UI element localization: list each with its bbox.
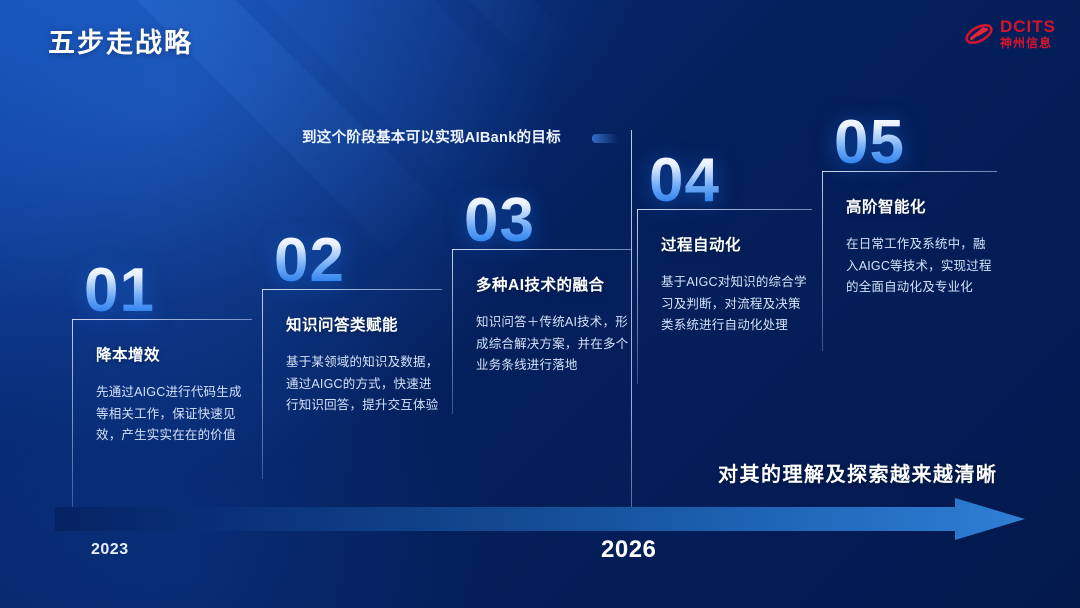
stage-annotation: 到这个阶段基本可以实现AIBank的目标: [302, 126, 561, 147]
step-card-02[interactable]: 02 知识问答类赋能 基于某领域的知识及数据，通过AIGC的方式，快速进行知识回…: [262, 232, 442, 479]
step-card-01[interactable]: 01 降本增效 先通过AIGC进行代码生成等相关工作，保证快速见效，产生实实在在…: [72, 262, 252, 509]
step-card-05[interactable]: 05 高阶智能化 在日常工作及系统中，融入AIGC等技术，实现过程的全面自动化及…: [822, 114, 997, 351]
logo-text-cn: 神州信息: [1000, 37, 1056, 49]
timeline-year-start: 2023: [91, 541, 129, 559]
step-bracket-02: 知识问答类赋能 基于某领域的知识及数据，通过AIGC的方式，快速进行知识回答，提…: [262, 289, 442, 479]
step-number-02: 02: [274, 232, 442, 289]
step-desc-04: 基于AIGC对知识的综合学习及判断，对流程及决策类系统进行自动化处理: [661, 272, 812, 337]
timeline-arrow: [55, 498, 1025, 540]
dcits-swirl-icon: [964, 19, 994, 49]
step-bracket-04: 过程自动化 基于AIGC对知识的综合学习及判断，对流程及决策类系统进行自动化处理: [637, 209, 812, 384]
step-number-03: 03: [464, 192, 632, 249]
slide-canvas: 五步走战略 DCITS 神州信息 到这个阶段基本可以实现AIBank的目标 01…: [0, 0, 1080, 608]
step-title-04: 过程自动化: [661, 233, 812, 255]
step-number-04: 04: [649, 152, 812, 209]
annotation-highlight-mark: [592, 134, 618, 143]
step-desc-05: 在日常工作及系统中，融入AIGC等技术，实现过程的全面自动化及专业化: [846, 234, 997, 299]
step-desc-03: 知识问答＋传统AI技术，形成综合解决方案，并在多个业务条线进行落地: [476, 312, 632, 377]
step-number-01: 01: [84, 262, 252, 319]
timeline-tagline: 对其的理解及探索越来越清晰: [718, 458, 998, 487]
page-title: 五步走战略: [48, 21, 193, 60]
step-desc-02: 基于某领域的知识及数据，通过AIGC的方式，快速进行知识回答，提升交互体验: [286, 352, 442, 417]
step-card-03[interactable]: 03 多种AI技术的融合 知识问答＋传统AI技术，形成综合解决方案，并在多个业务…: [452, 192, 632, 414]
step-bracket-05: 高阶智能化 在日常工作及系统中，融入AIGC等技术，实现过程的全面自动化及专业化: [822, 171, 997, 351]
step-desc-01: 先通过AIGC进行代码生成等相关工作，保证快速见效，产生实实在在的价值: [96, 382, 252, 447]
step-title-02: 知识问答类赋能: [286, 313, 442, 335]
step-bracket-01: 降本增效 先通过AIGC进行代码生成等相关工作，保证快速见效，产生实实在在的价值: [72, 319, 252, 509]
step-title-03: 多种AI技术的融合: [476, 273, 632, 295]
step-number-05: 05: [834, 114, 997, 171]
logo-text-en: DCITS: [1000, 18, 1056, 35]
step-bracket-03: 多种AI技术的融合 知识问答＋传统AI技术，形成综合解决方案，并在多个业务条线进…: [452, 249, 632, 414]
step-title-05: 高阶智能化: [846, 195, 997, 217]
step-card-04[interactable]: 04 过程自动化 基于AIGC对知识的综合学习及判断，对流程及决策类系统进行自动…: [637, 152, 812, 384]
timeline-year-end: 2026: [601, 536, 656, 564]
step-title-01: 降本增效: [96, 343, 252, 365]
company-logo: DCITS 神州信息: [964, 18, 1056, 49]
